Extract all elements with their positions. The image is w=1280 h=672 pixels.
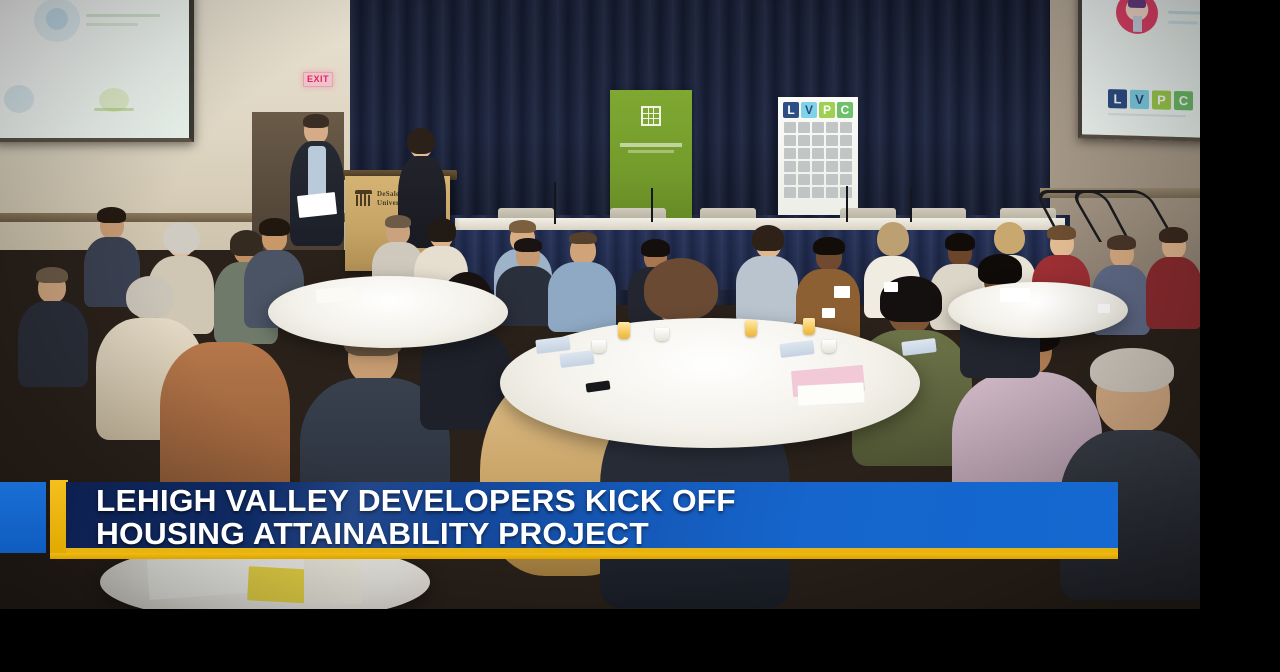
name-badge — [1098, 304, 1110, 313]
lower-third-headline-panel: LEHIGH VALLEY DEVELOPERS KICK OFF HOUSIN… — [66, 482, 1118, 553]
microphone-stand — [910, 188, 912, 222]
juice-glass — [618, 322, 630, 339]
audience-person — [1146, 232, 1200, 326]
handout-paper — [316, 287, 357, 304]
headline-line-1: LEHIGH VALLEY DEVELOPERS KICK OFF — [96, 484, 1118, 517]
headline-line-2: HOUSING ATTAINABILITY PROJECT — [96, 517, 1118, 550]
stage-curtain — [350, 0, 1050, 240]
handout-paper-foreground — [147, 552, 260, 600]
slide-avatar-illustration — [1116, 0, 1158, 34]
name-badge — [884, 282, 898, 292]
handout-paper — [1000, 288, 1030, 302]
handout-paper — [798, 382, 865, 405]
lvpc-banner-letters: LVPC — [782, 102, 854, 118]
broadcast-frame: LVPC EXIT LVPC — [0, 0, 1280, 672]
lower-third-gold-underline — [50, 553, 1118, 559]
exit-sign-label: EXIT — [307, 75, 329, 84]
projection-screen-right: LVPC — [1078, 0, 1200, 142]
lower-third-text: LEHIGH VALLEY DEVELOPERS KICK OFF HOUSIN… — [96, 484, 1108, 550]
coffee-cup — [822, 340, 836, 353]
lvpc-banner-icon-grid — [782, 122, 854, 198]
lower-third-banner: LEHIGH VALLEY DEVELOPERS KICK OFF HOUSIN… — [0, 478, 1124, 558]
audience-person — [18, 272, 88, 382]
projection-screen-left — [0, 0, 194, 142]
audience-person — [548, 236, 616, 328]
coffee-cup — [592, 340, 606, 353]
exit-sign: EXIT — [303, 72, 333, 87]
banquet-table — [268, 276, 508, 348]
microphone-stand — [651, 188, 653, 222]
microphone-stand — [554, 182, 556, 224]
slide-lvpc-logo: LVPC — [1108, 89, 1193, 110]
audience-person — [160, 328, 290, 498]
desales-crest-icon — [355, 190, 372, 206]
coffee-cup — [655, 328, 669, 341]
name-badge — [822, 308, 835, 318]
audience-person-foreground — [1060, 356, 1200, 596]
juice-glass — [745, 320, 757, 337]
green-banner-logo-icon — [641, 106, 661, 126]
juice-glass — [803, 318, 815, 335]
lower-third-blue-block — [0, 482, 46, 553]
microphone-stand — [846, 186, 848, 222]
